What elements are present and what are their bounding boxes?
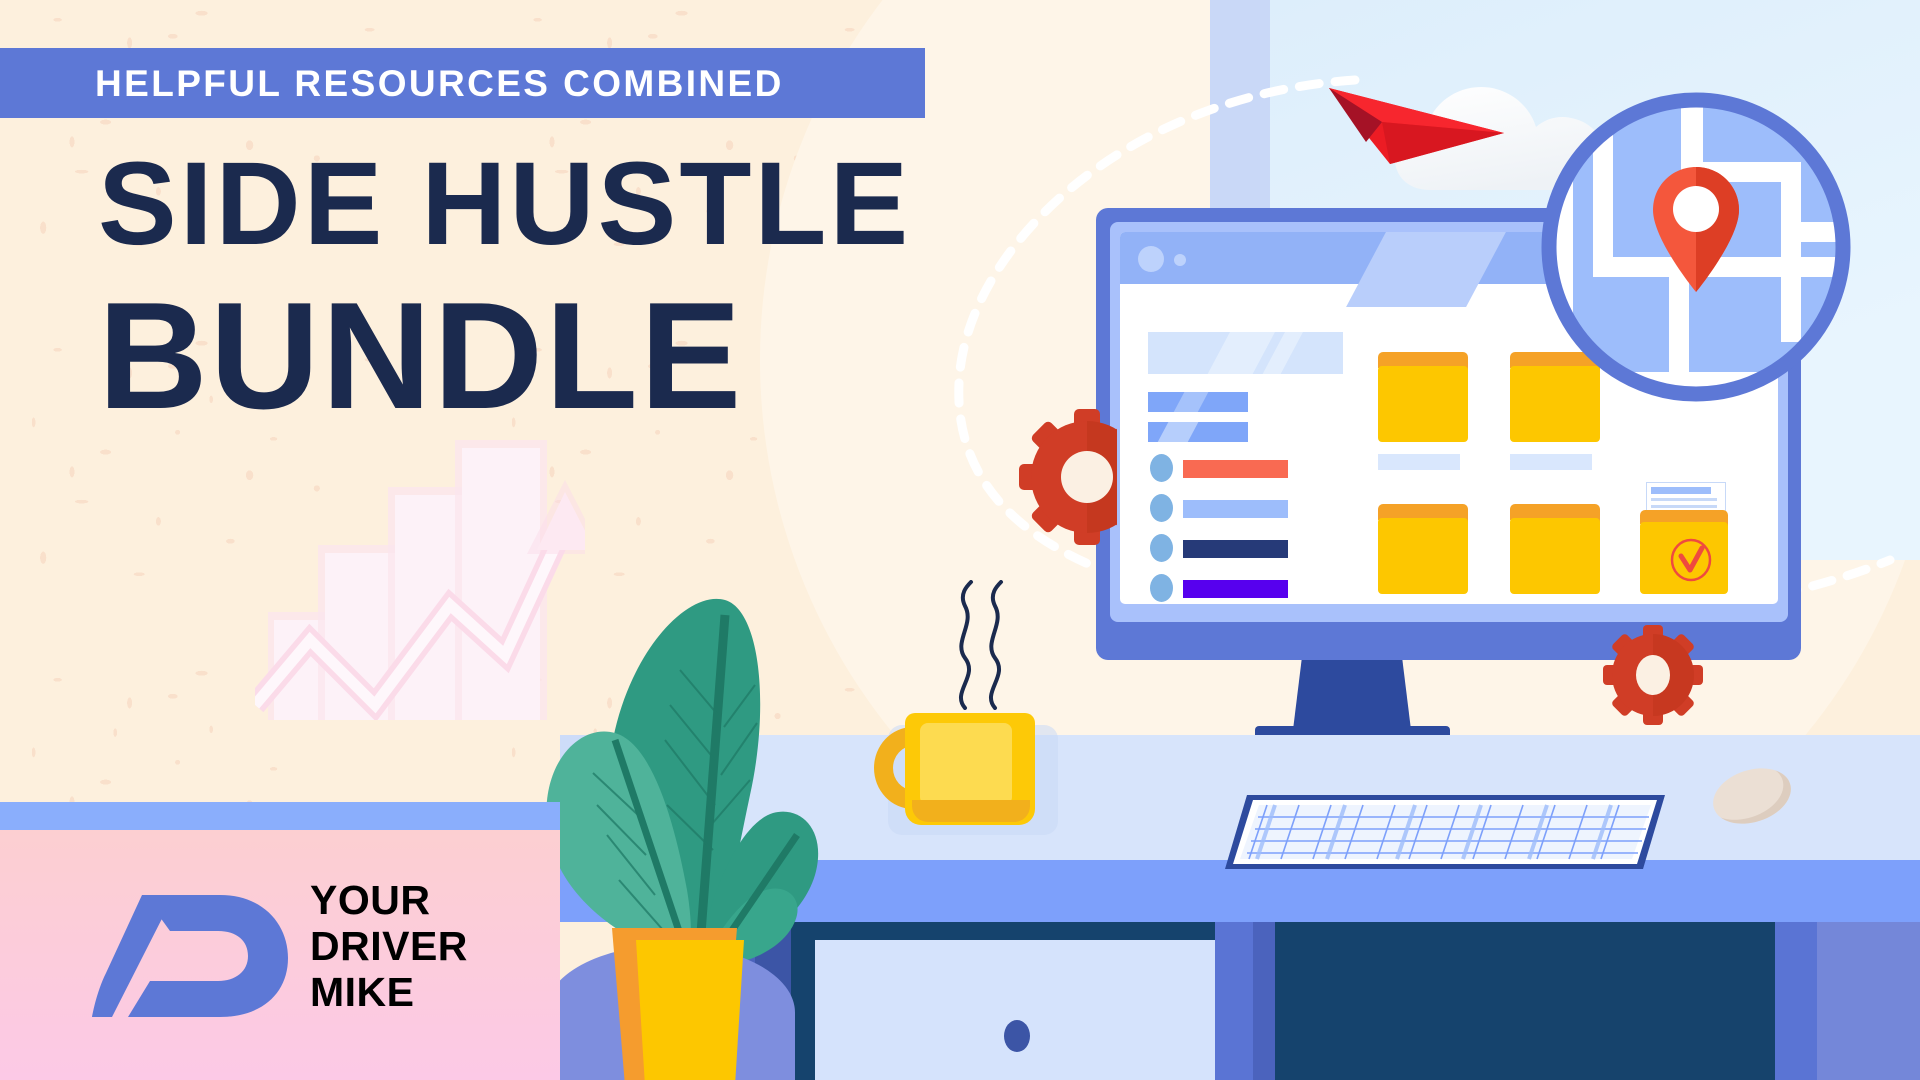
poster-canvas: HELPFUL RESOURCES COMBINED SIDE HUSTLE B… [0,0,1920,1080]
paper-plane-icon [1326,60,1506,170]
plant-pot-highlight [636,940,744,1080]
keyboard[interactable] [1225,787,1665,872]
cabinet-side-right [1215,922,1253,1080]
cabinet-pillar-right [1775,922,1817,1080]
steam-icon [945,580,1015,710]
folder-1[interactable] [1378,352,1468,442]
mug-highlight [920,723,1012,805]
gear-icon-left [1012,402,1117,552]
list-bullet-4 [1150,574,1173,602]
list-bullet-1 [1150,454,1173,482]
mug-base [912,800,1030,822]
page-title-line1: SIDE HUSTLE [98,148,938,260]
list-bullet-2 [1150,494,1173,522]
logo-text: YOUR DRIVER MIKE [310,880,560,1018]
accent-strip-blue [0,802,560,830]
list-bullet-3 [1150,534,1173,562]
eyebrow-text: HELPFUL RESOURCES COMBINED [95,60,925,108]
window-dot-large[interactable] [1138,246,1164,272]
gear-icon-right [1598,620,1708,730]
map-magnifier-icon[interactable] [1531,82,1861,412]
check-badge-icon [1670,538,1712,582]
titlebar-gloss [1346,232,1514,307]
potted-plant-leaves [535,505,855,975]
cabinet-pillar-right-shade [1817,922,1920,1080]
logo-line-2: DRIVER [310,926,560,967]
desk-drawer[interactable] [815,940,1215,1080]
logo-mark-icon [92,885,292,1025]
page-title-line2: BUNDLE [98,282,938,430]
list-bar-2 [1183,500,1288,518]
sidebar-bar-2 [1148,422,1248,442]
folder-2-label [1510,454,1592,470]
folder-3[interactable] [1378,504,1468,594]
logo-line-1: YOUR [310,880,560,921]
cabinet-side-right-shade [1253,922,1275,1080]
folder-4[interactable] [1510,504,1600,594]
folder-checked[interactable] [1640,510,1728,594]
folder-1-label [1378,454,1460,470]
drawer-knob[interactable] [1004,1020,1030,1052]
sidebar-header-block [1148,332,1343,374]
window-dot-small[interactable] [1174,254,1186,266]
list-bar-3 [1183,540,1288,558]
list-bar-4 [1183,580,1288,598]
sidebar-bar-1 [1148,392,1248,412]
list-bar-1 [1183,460,1288,478]
logo-line-3: MIKE [310,972,560,1013]
